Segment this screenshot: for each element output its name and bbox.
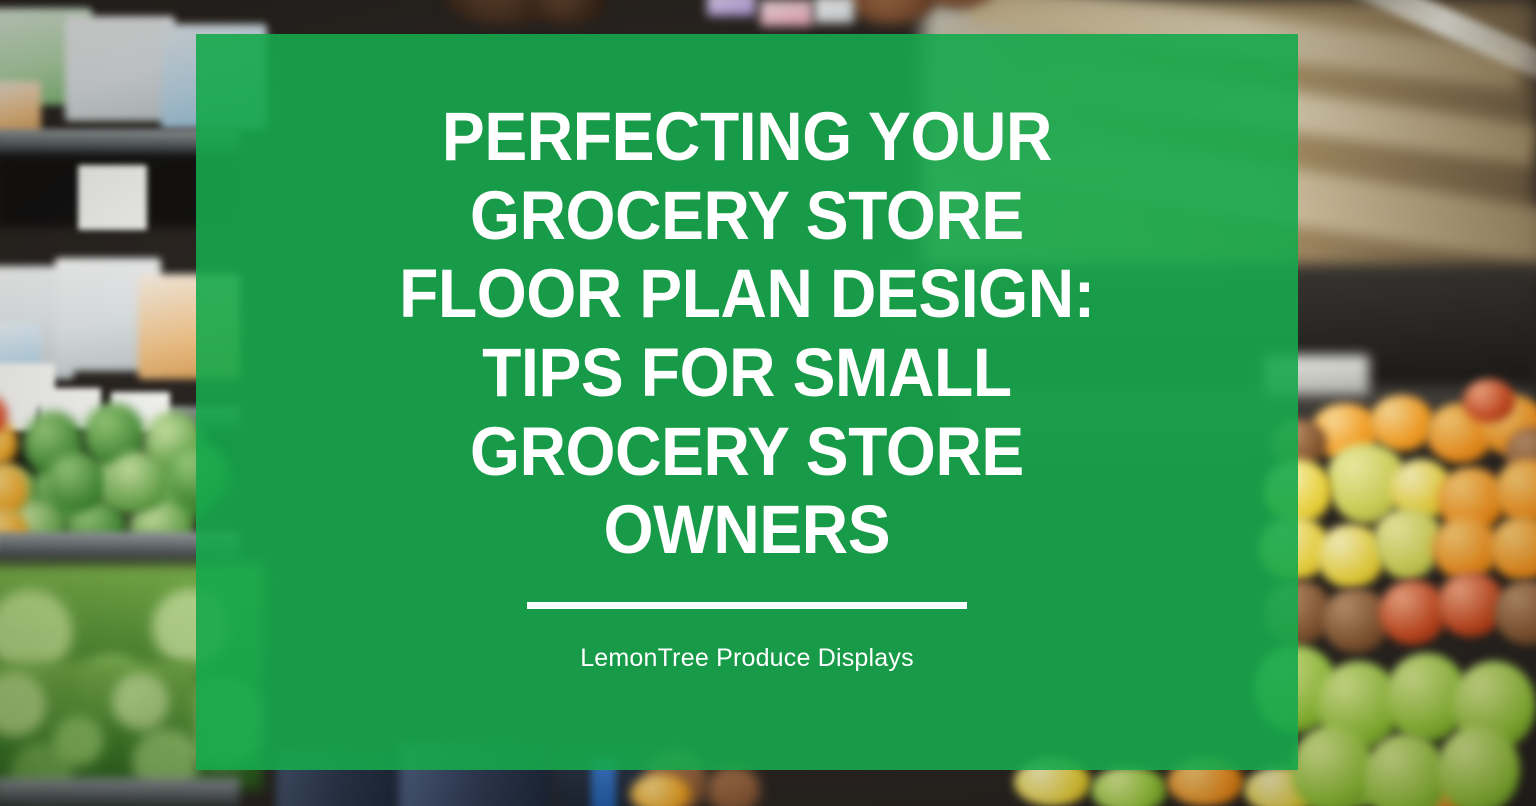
title-line-5: GROCERY STORE	[255, 413, 1239, 492]
title-divider	[527, 602, 967, 609]
shopper-head	[530, 0, 607, 24]
title-line-1: PERFECTING YOUR	[255, 98, 1239, 177]
page-title: PERFECTING YOUR GROCERY STORE FLOOR PLAN…	[255, 98, 1239, 570]
green-apple	[1364, 733, 1448, 806]
bell-pepper	[46, 451, 106, 511]
right-fruit-display	[1275, 0, 1536, 806]
subtitle-brand: LemonTree Produce Displays	[580, 644, 914, 673]
green-apple	[1091, 766, 1168, 806]
product-box	[814, 0, 854, 23]
blog-header-banner: PERFECTING YOUR GROCERY STORE FLOOR PLAN…	[0, 0, 1536, 806]
bell-pepper	[106, 451, 171, 511]
green-overlay-panel: PERFECTING YOUR GROCERY STORE FLOOR PLAN…	[196, 34, 1298, 770]
title-line-6: OWNERS	[255, 491, 1239, 570]
shelf-package	[65, 16, 176, 121]
shopper-arm	[707, 766, 761, 806]
product-box	[760, 0, 812, 26]
price-tag	[78, 165, 147, 229]
title-line-3: FLOOR PLAN DESIGN:	[255, 255, 1239, 334]
tangerine	[1369, 395, 1434, 451]
orange-fruit	[1489, 516, 1536, 580]
product-box	[707, 0, 756, 16]
bin-edge	[0, 778, 240, 806]
green-apple	[1291, 725, 1375, 806]
green-apple	[1437, 725, 1521, 806]
title-line-4: TIPS FOR SMALL	[255, 334, 1239, 413]
title-line-2: GROCERY STORE	[255, 177, 1239, 256]
red-apple	[1463, 379, 1515, 423]
